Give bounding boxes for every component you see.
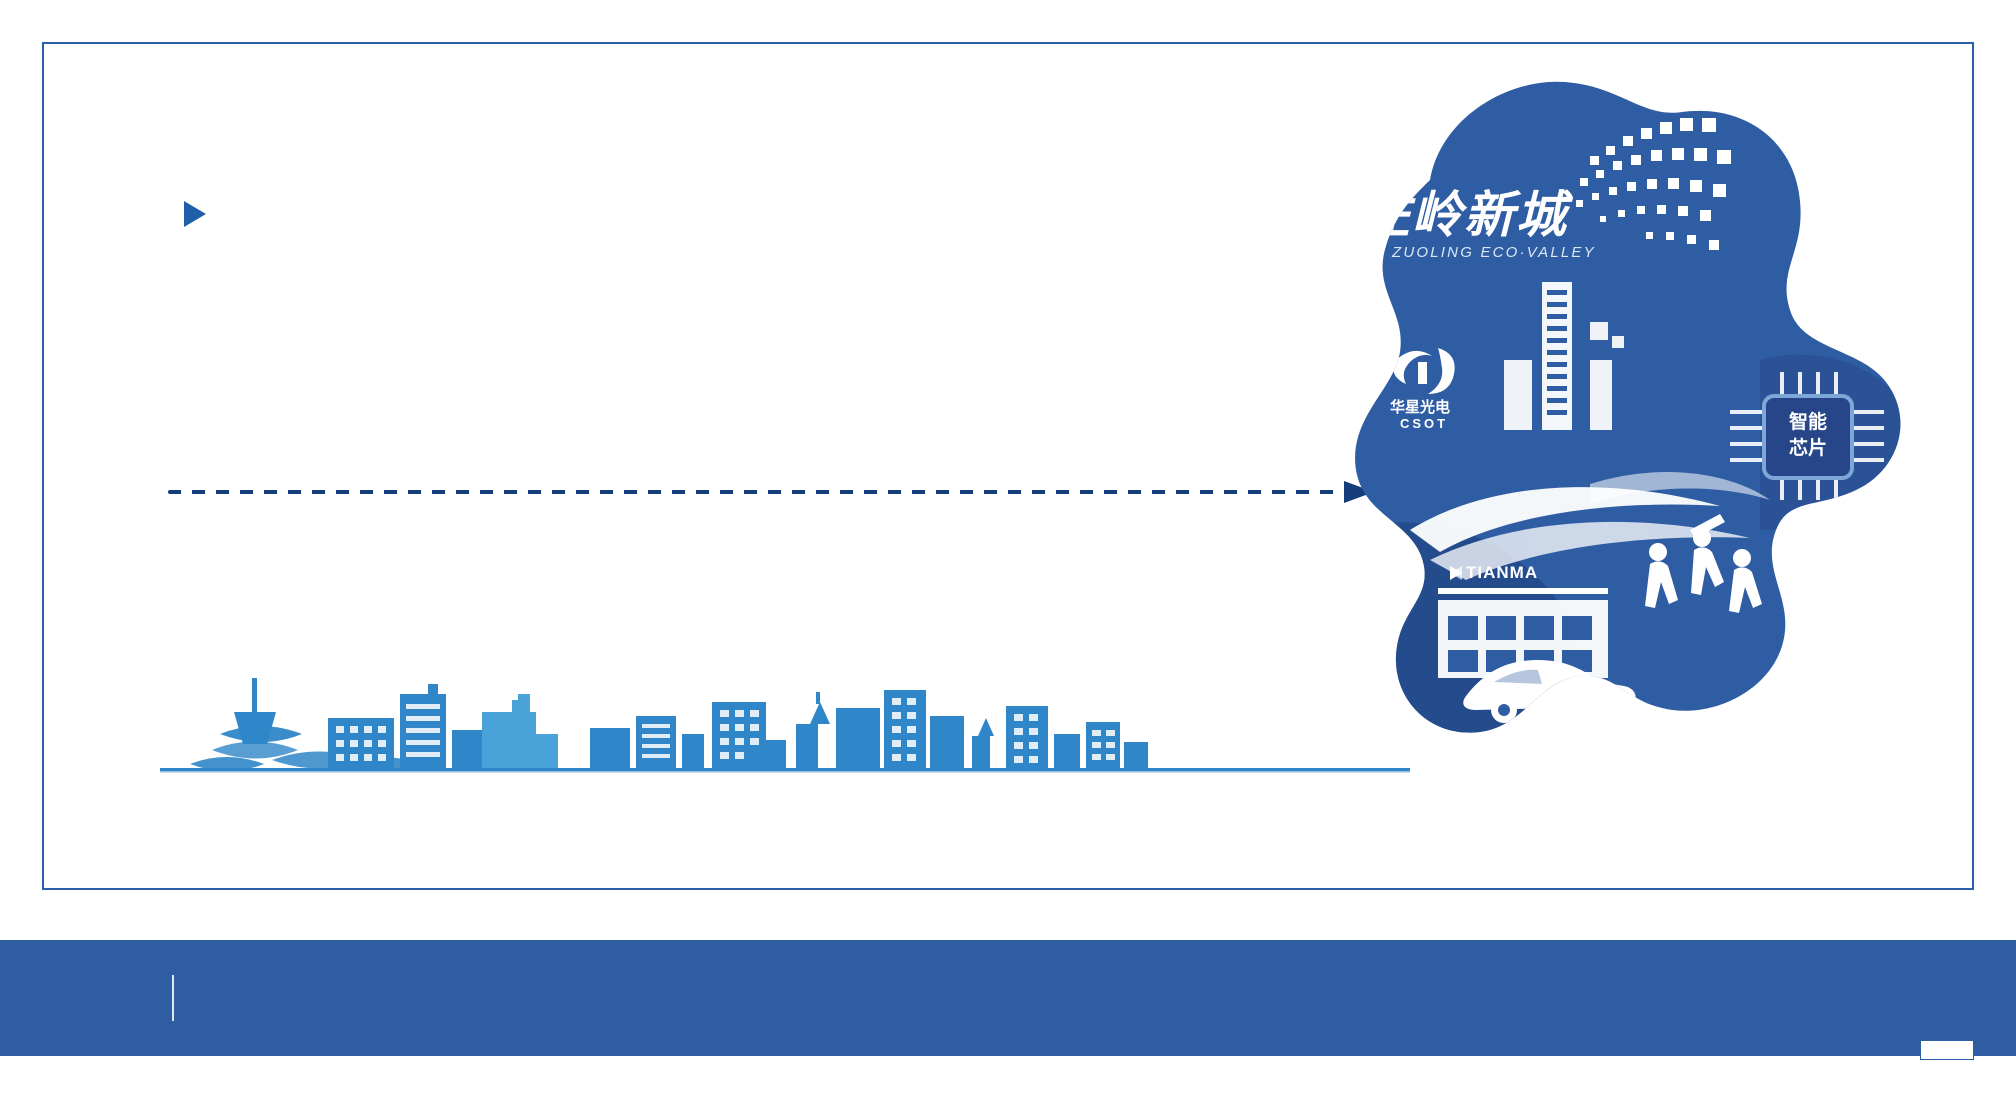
map-csot-en: CSOT	[1400, 416, 1448, 431]
timeline	[168, 330, 1388, 720]
city-skyline-illustration	[160, 672, 1410, 792]
caption-divider	[172, 975, 174, 1021]
timeline-axis	[168, 490, 1380, 494]
zuoling-map-graphic: 左岭新城 ZUOLING ECO·VALLEY	[1290, 60, 1990, 820]
map-brand-cn: 左岭新城	[1360, 187, 1574, 243]
play-triangle-icon	[184, 201, 206, 227]
page-title-cn	[178, 196, 206, 248]
page-title	[178, 196, 206, 260]
map-tianma-label: TIANMA	[1466, 563, 1538, 582]
map-chip-label-1: 智能	[1789, 410, 1827, 433]
map-svg: 左岭新城 ZUOLING ECO·VALLEY	[1290, 60, 1990, 820]
timeline-dashed-line	[168, 490, 1348, 494]
skyline-svg	[160, 672, 1410, 792]
caption-bar	[0, 940, 2016, 1056]
map-chip-label-2: 芯片	[1789, 436, 1827, 459]
map-tower	[1542, 282, 1572, 430]
size-badge	[1920, 1040, 1974, 1060]
map-csot-cn: 华星光电	[1390, 398, 1450, 416]
poster-root: 左岭新城 ZUOLING ECO·VALLEY	[0, 0, 2016, 1102]
map-brand-en: ZUOLING ECO·VALLEY	[1391, 244, 1596, 261]
